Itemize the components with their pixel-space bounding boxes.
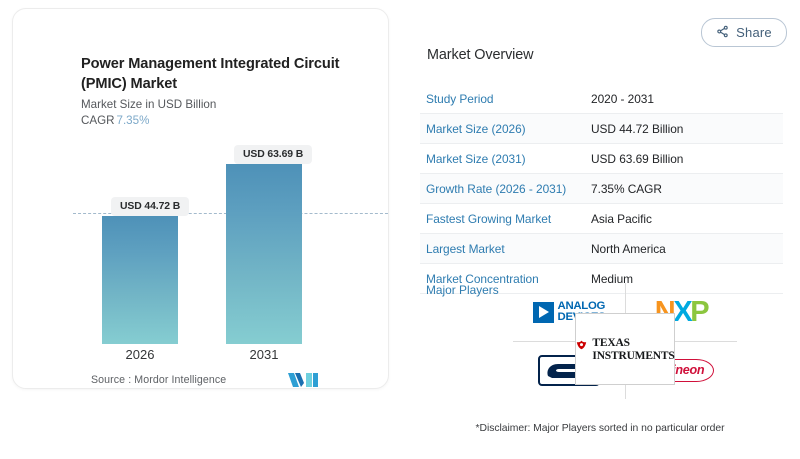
share-button-label: Share <box>736 25 772 40</box>
row-value: Asia Pacific <box>591 212 783 226</box>
table-row: Market Size (2031) USD 63.69 Billion <box>420 144 783 174</box>
nxp-letter-x: X <box>673 296 690 328</box>
x-tick-2031: 2031 <box>226 347 302 362</box>
major-players-logo-grid: ANALOG DEVICES NXP Infineon <box>513 283 737 399</box>
row-key: Market Size (2031) <box>420 152 591 166</box>
texas-instruments-mark-icon <box>575 340 588 359</box>
texas-instruments-wordmark: TEXAS INSTRUMENTS <box>592 336 674 362</box>
texas-instruments-line2: INSTRUMENTS <box>592 350 674 362</box>
row-key: Study Period <box>420 92 591 106</box>
market-overview-title: Market Overview <box>427 47 533 63</box>
bar-2026 <box>102 216 178 344</box>
x-tick-2026: 2026 <box>102 347 178 362</box>
row-key: Fastest Growing Market <box>420 212 591 226</box>
disclaimer-text: *Disclaimer: Major Players sorted in no … <box>418 423 782 434</box>
mordor-intelligence-logo <box>287 371 321 389</box>
analog-devices-mark-icon <box>533 302 554 323</box>
player-logo-texas-instruments: TEXAS INSTRUMENTS <box>575 313 675 385</box>
bar-value-label-2031: USD 63.69 B <box>234 145 312 164</box>
nxp-letter-p: P <box>690 296 707 328</box>
row-value: USD 44.72 Billion <box>591 122 783 136</box>
row-value: North America <box>591 242 783 256</box>
bar-2031 <box>226 164 302 344</box>
chart-card: Power Management Integrated Circuit (PMI… <box>12 8 389 389</box>
table-row: Fastest Growing Market Asia Pacific <box>420 204 783 234</box>
major-players-label: Major Players <box>426 283 499 297</box>
chart-source: Source : Mordor Intelligence <box>91 374 226 386</box>
bar-value-label-2026: USD 44.72 B <box>111 197 189 216</box>
table-row: Growth Rate (2026 - 2031) 7.35% CAGR <box>420 174 783 204</box>
row-value: USD 63.69 Billion <box>591 152 783 166</box>
row-value: 7.35% CAGR <box>591 182 783 196</box>
market-overview-table: Study Period 2020 - 2031 Market Size (20… <box>420 84 783 294</box>
table-row: Market Size (2026) USD 44.72 Billion <box>420 114 783 144</box>
row-key: Largest Market <box>420 242 591 256</box>
texas-instruments-line1: TEXAS <box>592 337 629 349</box>
share-button[interactable]: Share <box>701 18 787 47</box>
page-root: Share Power Management Integrated Circui… <box>0 0 800 459</box>
row-key: Growth Rate (2026 - 2031) <box>420 182 591 196</box>
row-value: 2020 - 2031 <box>591 92 783 106</box>
row-key: Market Size (2026) <box>420 122 591 136</box>
table-row: Largest Market North America <box>420 234 783 264</box>
bar-chart-plot: USD 44.72 B USD 63.69 B 2026 2031 <box>13 9 389 389</box>
share-icon <box>716 25 729 41</box>
table-row: Study Period 2020 - 2031 <box>420 84 783 114</box>
